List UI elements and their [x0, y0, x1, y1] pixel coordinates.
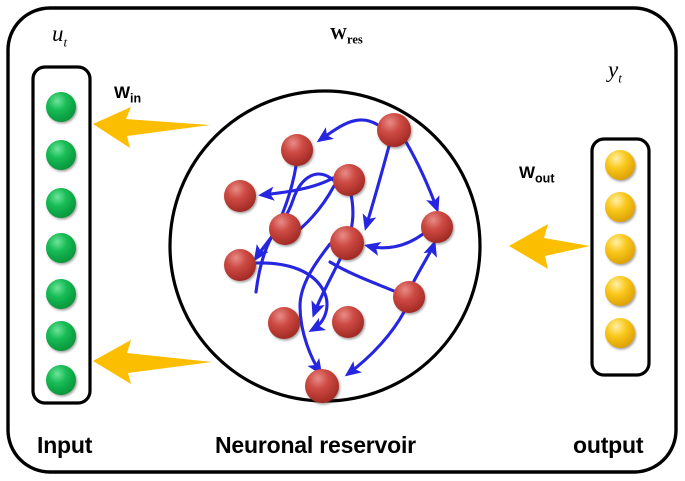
output-variable-subscript: t [618, 71, 622, 86]
input-node[interactable] [46, 365, 76, 395]
output-variable-symbol: y [608, 57, 618, 82]
input-node[interactable] [46, 279, 76, 309]
w-out-label: Wout [519, 164, 554, 185]
input-variable-subscript: t [64, 35, 68, 50]
input-variable-label: ut [52, 22, 67, 49]
output-variable-label: yt [608, 58, 622, 85]
output-node[interactable] [605, 150, 635, 180]
reservoir-node[interactable] [224, 249, 256, 281]
w-out-subscript: out [535, 171, 554, 185]
reservoir-node[interactable] [281, 134, 313, 166]
w-in-symbol: W [114, 83, 130, 102]
w-out-symbol: W [519, 163, 535, 182]
w-res-subscript: res [347, 32, 363, 46]
input-node[interactable] [46, 188, 76, 218]
reservoir-node[interactable] [393, 281, 425, 313]
input-node[interactable] [46, 92, 76, 122]
input-caption: Input [37, 434, 92, 457]
w-in-bottom-arrow [93, 340, 212, 384]
w-res-symbol: W [330, 24, 347, 43]
diagram-canvas: ut yt Win Wres Wout Input Neuronal reser… [0, 0, 685, 481]
w-in-label: Win [114, 84, 141, 105]
w-res-label: Wres [330, 25, 363, 46]
output-node[interactable] [605, 318, 635, 348]
reservoir-node[interactable] [269, 213, 301, 245]
reservoir-node[interactable] [268, 307, 300, 339]
output-node[interactable] [605, 234, 635, 264]
w-in-top-arrow [93, 107, 210, 148]
input-node[interactable] [46, 140, 76, 170]
reservoir-node[interactable] [305, 369, 339, 403]
output-node[interactable] [605, 276, 635, 306]
reservoir-node[interactable] [333, 164, 365, 196]
w-out-arrow [509, 224, 590, 269]
reservoir-node[interactable] [332, 306, 364, 338]
output-caption: output [573, 434, 643, 457]
output-node[interactable] [605, 192, 635, 222]
reservoir-node[interactable] [377, 113, 411, 147]
reservoir-node[interactable] [224, 180, 256, 212]
reservoir-diagram [0, 0, 685, 481]
input-node[interactable] [46, 233, 76, 263]
input-node[interactable] [46, 321, 76, 351]
input-variable-symbol: u [52, 21, 64, 46]
reservoir-caption: Neuronal reservoir [215, 434, 416, 457]
w-in-subscript: in [130, 91, 141, 105]
reservoir-node[interactable] [421, 211, 453, 243]
reservoir-node[interactable] [330, 226, 364, 260]
